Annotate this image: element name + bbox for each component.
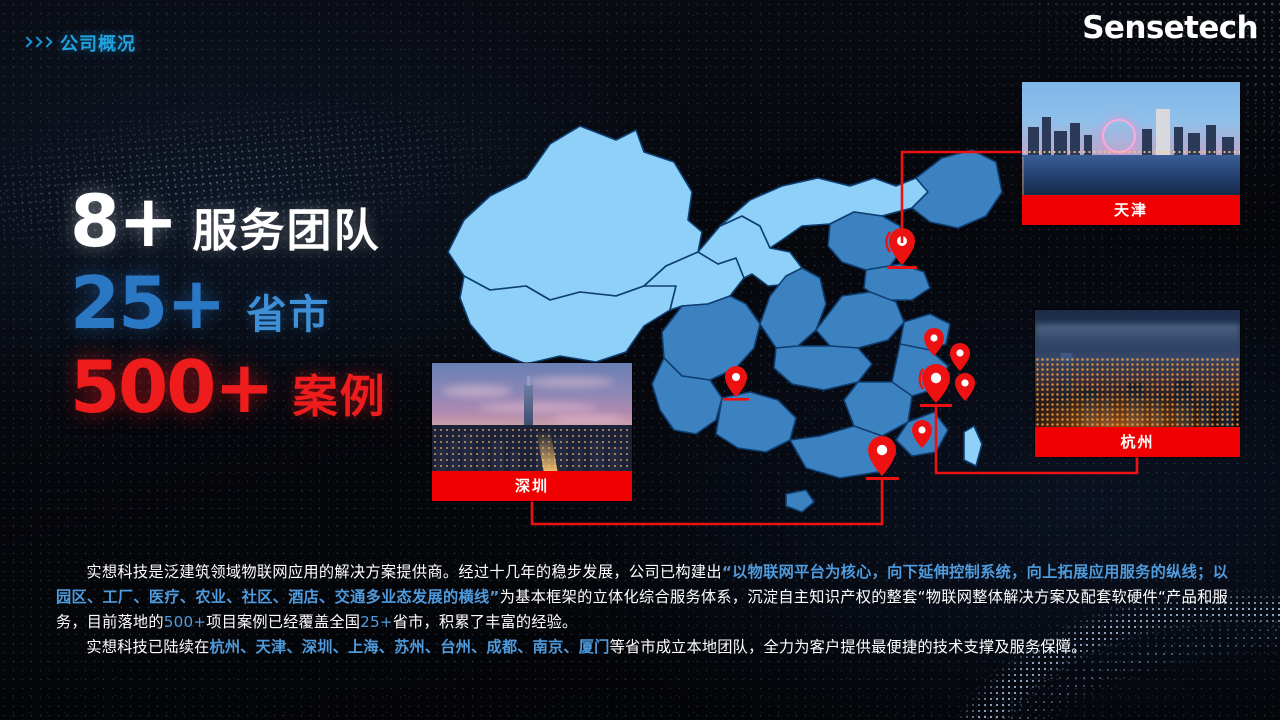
stat-cases-number: 500+ <box>70 351 273 423</box>
city-card-tianjin[interactable]: 天津 <box>1022 82 1240 225</box>
p1-part-a: 实想科技是泛建筑领域物联网应用的解决方案提供商。经过十几年的稳步发展，公司已构建… <box>86 563 721 581</box>
stat-provinces-number: 25+ <box>70 267 225 339</box>
city-card-hangzhou-caption: 杭州 <box>1035 427 1240 457</box>
stat-provinces: 25+ 省市 <box>70 267 387 339</box>
brand-logo: Sensetech <box>1082 10 1258 46</box>
city-card-shenzhen[interactable]: 深圳 <box>432 363 632 501</box>
city-card-tianjin-caption: 天津 <box>1022 195 1240 225</box>
stats-block: 8+ 服务团队 25+ 省市 500+ 案例 <box>70 185 387 427</box>
slide-root: 公司概况 Sensetech 8+ 服务团队 25+ 省市 500+ 案例 <box>0 0 1280 720</box>
city-card-hangzhou[interactable]: 杭州 <box>1035 310 1240 457</box>
paragraph-2: 实想科技已陆续在杭州、天津、深圳、上海、苏州、台州、成都、南京、厦门等省市成立本… <box>56 635 1228 660</box>
p1-part-c: 项目案例已经覆盖全国 <box>206 613 360 631</box>
city-card-shenzhen-caption: 深圳 <box>432 471 632 501</box>
p2-part-a: 实想科技已陆续在 <box>86 638 209 656</box>
slide-header: 公司概况 Sensetech <box>0 0 1280 62</box>
p1-part-d: 省市，积累了丰富的经验。 <box>393 613 578 631</box>
stat-provinces-label: 省市 <box>247 295 331 335</box>
stat-cases: 500+ 案例 <box>70 351 387 423</box>
tianjin-skyline-photo <box>1022 82 1240 195</box>
shenzhen-dusk-skyline-photo <box>432 363 632 471</box>
p2-part-b: 等省市成立本地团队，全力为客户提供最便捷的技术支撑及服务保障。 <box>610 638 1087 656</box>
connector-tianjin <box>902 152 1022 243</box>
stat-teams-label: 服务团队 <box>192 208 380 253</box>
p1-cases-count: 500+ <box>164 613 207 631</box>
breadcrumb: 公司概况 <box>22 30 136 56</box>
breadcrumb-label: 公司概况 <box>60 30 136 56</box>
stat-cases-label: 案例 <box>293 374 387 419</box>
body-paragraphs: 实想科技是泛建筑领域物联网应用的解决方案提供商。经过十几年的稳步发展，公司已构建… <box>56 560 1228 660</box>
p2-city-list: 杭州、天津、深圳、上海、苏州、台州、成都、南京、厦门 <box>210 638 610 656</box>
hangzhou-night-skyline-photo <box>1035 310 1240 427</box>
stat-teams-number: 8+ <box>70 185 176 257</box>
chevrons-right-icon <box>22 37 50 50</box>
stat-teams: 8+ 服务团队 <box>70 185 387 257</box>
paragraph-1: 实想科技是泛建筑领域物联网应用的解决方案提供商。经过十几年的稳步发展，公司已构建… <box>56 560 1228 635</box>
p1-provinces-count: 25+ <box>360 613 393 631</box>
